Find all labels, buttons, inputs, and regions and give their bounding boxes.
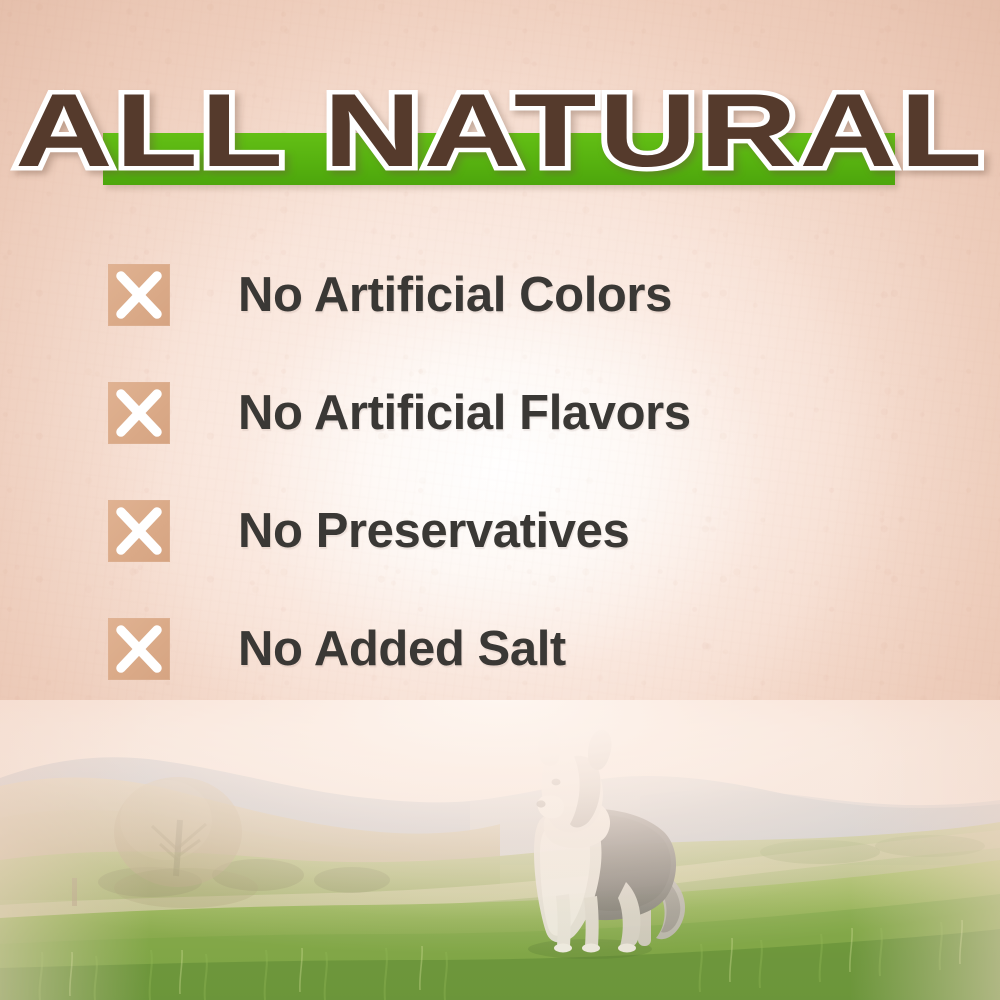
- list-item: No Added Salt: [108, 616, 968, 682]
- list-item-label: No Preservatives: [238, 506, 629, 556]
- x-mark-glyph: [108, 618, 170, 680]
- product-claims-poster: All Natural No Artificial Colors: [0, 0, 1000, 1000]
- list-item: No Artificial Flavors: [108, 380, 968, 446]
- headline-block: All Natural: [0, 72, 1000, 202]
- claims-list: No Artificial Colors No Artificial Flavo…: [108, 262, 968, 734]
- x-mark-icon: [108, 382, 170, 444]
- list-item-label: No Artificial Flavors: [238, 388, 691, 438]
- list-item-label: No Added Salt: [238, 624, 566, 674]
- list-item: No Artificial Colors: [108, 262, 968, 328]
- x-mark-icon: [108, 264, 170, 326]
- dog-in-field-photo: [0, 700, 1000, 1000]
- x-mark-icon: [108, 500, 170, 562]
- list-item-label: No Artificial Colors: [238, 270, 672, 320]
- page-title: All Natural: [0, 72, 1000, 190]
- x-mark-glyph: [108, 264, 170, 326]
- landscape-illustration: [0, 700, 1000, 1000]
- x-mark-icon: [108, 618, 170, 680]
- list-item: No Preservatives: [108, 498, 968, 564]
- x-mark-glyph: [108, 382, 170, 444]
- x-mark-glyph: [108, 500, 170, 562]
